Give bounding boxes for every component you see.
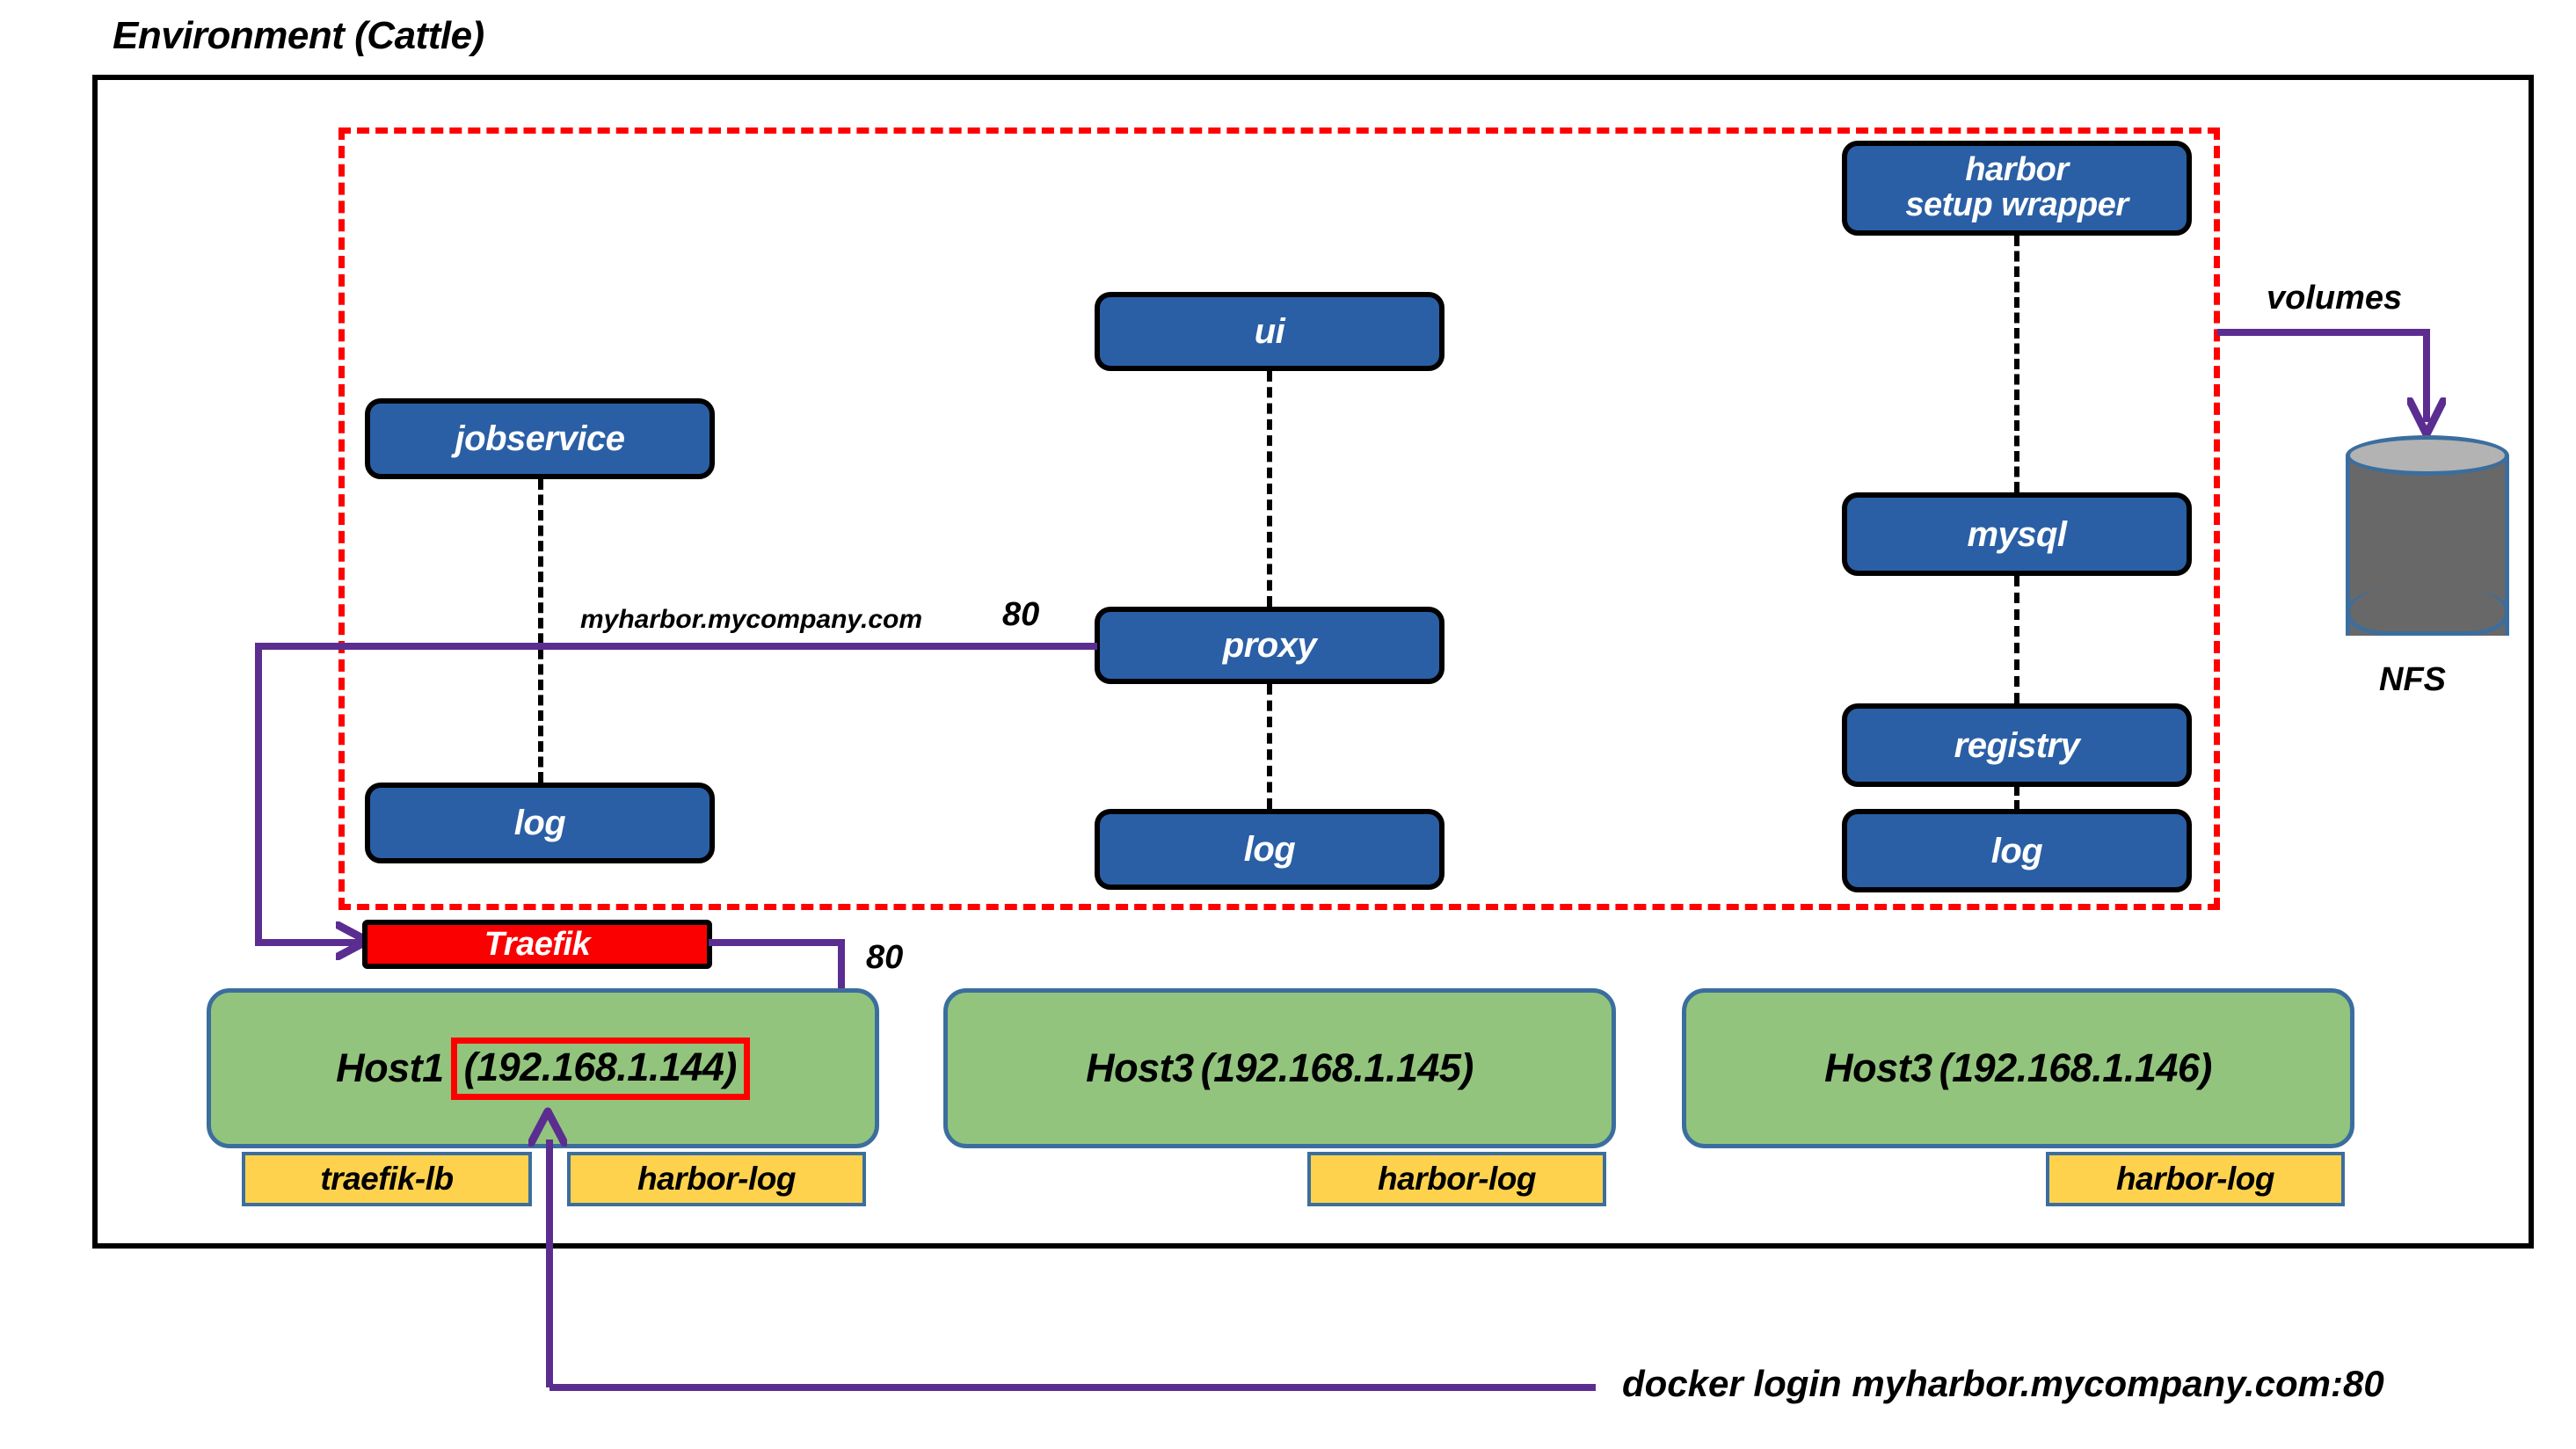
host-name: Host3 [1086, 1045, 1201, 1091]
tag-label: harbor-log [637, 1161, 796, 1198]
link-docker-login-vertical [546, 1140, 553, 1387]
nfs-storage-cylinder[interactable] [2346, 435, 2509, 655]
connector-mysql-registry [2014, 576, 2019, 703]
connector-setup-mysql [2014, 236, 2019, 492]
diagram-canvas: Environment (Cattle) jobservice log ui p… [0, 0, 2576, 1449]
host-tag-harbor-log-1[interactable]: harbor-log [567, 1152, 866, 1206]
host-box-host2[interactable]: Host3 (192.168.1.145) [943, 988, 1616, 1148]
host-name: Host3 [1824, 1045, 1939, 1091]
host-ip: (192.168.1.145) [1201, 1045, 1474, 1091]
host-name: Host1 [336, 1045, 451, 1091]
service-label-line2: setup wrapper [1905, 188, 2128, 223]
link-docker-login-horizontal [549, 1384, 1596, 1391]
service-box-log-mid[interactable]: log [1095, 809, 1444, 890]
host-tag-harbor-log-3[interactable]: harbor-log [2046, 1152, 2345, 1206]
service-label: log [514, 805, 565, 841]
service-label: mysql [1967, 516, 2066, 553]
traefik-port-label: 80 [866, 939, 903, 977]
volumes-link-label: volumes [2267, 280, 2402, 317]
ingress-port-label: 80 [1002, 596, 1039, 634]
docker-login-command-label: docker login myharbor.mycompany.com:80 [1622, 1363, 2384, 1405]
host-ip: (192.168.1.146) [1939, 1045, 2212, 1091]
link-volumes-horizontal [2217, 329, 2430, 336]
service-label: log [1244, 831, 1295, 868]
nfs-cylinder-bottom [2346, 590, 2509, 636]
service-box-jobservice[interactable]: jobservice [365, 398, 715, 479]
arrowhead-into-host1-bottom [528, 1106, 567, 1147]
nfs-label: NFS [2379, 661, 2446, 699]
page-title: Environment (Cattle) [113, 14, 484, 58]
connector-registry-log [2014, 787, 2019, 809]
traefik-loadbalancer-box[interactable]: Traefik [362, 920, 712, 969]
host-tag-harbor-log-2[interactable]: harbor-log [1307, 1152, 1606, 1206]
link-traefik-out-horizontal [709, 939, 845, 946]
service-label: ui [1255, 313, 1285, 350]
service-label: jobservice [455, 420, 625, 457]
host-box-host3[interactable]: Host3 (192.168.1.146) [1682, 988, 2354, 1148]
link-ingress-vertical [255, 643, 262, 943]
link-ingress-horizontal [255, 643, 1097, 650]
service-label-line1: harbor [1965, 153, 2068, 188]
ingress-domain-label: myharbor.mycompany.com [580, 605, 922, 635]
host-ip-highlighted: (192.168.1.144) [451, 1038, 750, 1100]
service-label: log [1991, 833, 2042, 870]
tag-label: harbor-log [2116, 1161, 2274, 1198]
connector-ui-proxy [1267, 371, 1272, 607]
service-box-log-left[interactable]: log [365, 783, 715, 863]
service-box-harbor-setup-wrapper[interactable]: harbor setup wrapper [1842, 141, 2192, 236]
service-box-registry[interactable]: registry [1842, 703, 2192, 787]
connector-jobservice-log [538, 479, 543, 783]
service-box-log-right[interactable]: log [1842, 809, 2192, 892]
arrowhead-into-nfs [2407, 397, 2446, 440]
service-label: registry [1954, 727, 2080, 764]
tag-label: traefik-lb [320, 1161, 453, 1198]
tag-label: harbor-log [1378, 1161, 1536, 1198]
service-label: proxy [1223, 627, 1316, 664]
nfs-cylinder-top [2346, 435, 2509, 476]
host-tag-traefik-lb[interactable]: traefik-lb [242, 1152, 532, 1206]
traefik-label: Traefik [484, 926, 590, 964]
service-box-ui[interactable]: ui [1095, 292, 1444, 371]
service-box-proxy[interactable]: proxy [1095, 607, 1444, 684]
service-box-mysql[interactable]: mysql [1842, 492, 2192, 576]
connector-proxy-log [1267, 684, 1272, 809]
